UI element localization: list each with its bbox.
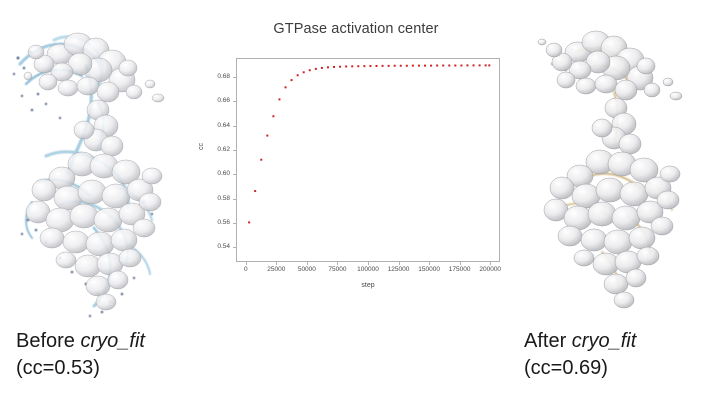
data-point [460, 65, 462, 67]
caption-after-cc: (cc=0.69) [524, 355, 636, 382]
data-point [291, 79, 293, 81]
data-point [424, 65, 426, 67]
caption-before-italic: cryo_fit [80, 330, 144, 352]
x-tick-mark [429, 262, 430, 265]
cc-vs-step-chart: GTPase activation center cc step 0.540.5… [196, 10, 516, 300]
structure-after-cryofit [518, 6, 718, 324]
data-point [369, 65, 371, 67]
data-point [303, 71, 305, 73]
caption-after: After cryo_fit (cc=0.69) [524, 328, 636, 382]
x-tick-mark [368, 262, 369, 265]
data-point [388, 65, 390, 67]
data-point [466, 64, 468, 66]
data-point [418, 65, 420, 67]
caption-before-prefix: Before [16, 330, 80, 352]
data-point [448, 65, 450, 67]
data-point [412, 65, 414, 67]
chart-title: GTPase activation center [196, 21, 516, 37]
data-point [321, 67, 323, 69]
x-tick-mark [246, 262, 247, 265]
x-tick-mark [337, 262, 338, 265]
y-tick-mark [233, 174, 236, 175]
x-axis-label: step [236, 282, 500, 289]
caption-before-cc: (cc=0.53) [16, 355, 145, 382]
y-tick-label: 0.58 [196, 195, 230, 202]
data-point [351, 65, 353, 67]
y-tick-mark [233, 199, 236, 200]
data-point [436, 65, 438, 67]
data-point [485, 64, 487, 66]
y-tick-label: 0.64 [196, 122, 230, 129]
y-tick-label: 0.60 [196, 170, 230, 177]
x-tick-mark [460, 262, 461, 265]
density-surface-before [24, 33, 164, 310]
x-tick-mark [399, 262, 400, 265]
data-point [333, 66, 335, 68]
data-point [479, 64, 481, 66]
y-tick-mark [233, 126, 236, 127]
data-point [260, 159, 262, 161]
x-tick-label: 200000 [470, 266, 510, 273]
caption-after-prefix: After [524, 330, 572, 352]
data-point [327, 66, 329, 68]
density-surface-after [538, 31, 682, 308]
y-tick-label: 0.56 [196, 219, 230, 226]
y-tick-label: 0.66 [196, 97, 230, 104]
x-tick-mark [276, 262, 277, 265]
y-tick-mark [233, 247, 236, 248]
caption-after-italic: cryo_fit [572, 330, 636, 352]
data-point [376, 65, 378, 67]
data-point [266, 135, 268, 137]
x-tick-mark [307, 262, 308, 265]
data-point [285, 86, 287, 88]
data-point [400, 65, 402, 67]
scatter-series-cc [237, 59, 499, 261]
structure-before-cryofit [2, 6, 202, 324]
data-point [430, 65, 432, 67]
y-tick-label: 0.62 [196, 146, 230, 153]
y-tick-label: 0.54 [196, 243, 230, 250]
data-point [309, 69, 311, 71]
data-point [357, 65, 359, 67]
data-point [254, 190, 256, 192]
data-point [272, 115, 274, 117]
data-point [339, 66, 341, 68]
y-tick-mark [233, 150, 236, 151]
y-tick-mark [233, 77, 236, 78]
data-point [363, 65, 365, 67]
y-tick-label: 0.68 [196, 73, 230, 80]
data-point [345, 65, 347, 67]
data-point [297, 74, 299, 76]
data-point [488, 64, 490, 66]
data-point [278, 98, 280, 100]
data-point [248, 221, 250, 223]
data-point [315, 68, 317, 70]
plot-area [236, 58, 500, 262]
data-point [442, 65, 444, 67]
data-point [473, 64, 475, 66]
cryo-em-density-before-svg [2, 6, 202, 324]
cryo-em-density-after-svg [518, 6, 718, 324]
data-point [382, 65, 384, 67]
y-tick-mark [233, 101, 236, 102]
data-point [394, 65, 396, 67]
data-point [454, 65, 456, 67]
x-tick-mark [490, 262, 491, 265]
data-point [406, 65, 408, 67]
y-tick-mark [233, 223, 236, 224]
caption-before: Before cryo_fit (cc=0.53) [16, 328, 145, 382]
